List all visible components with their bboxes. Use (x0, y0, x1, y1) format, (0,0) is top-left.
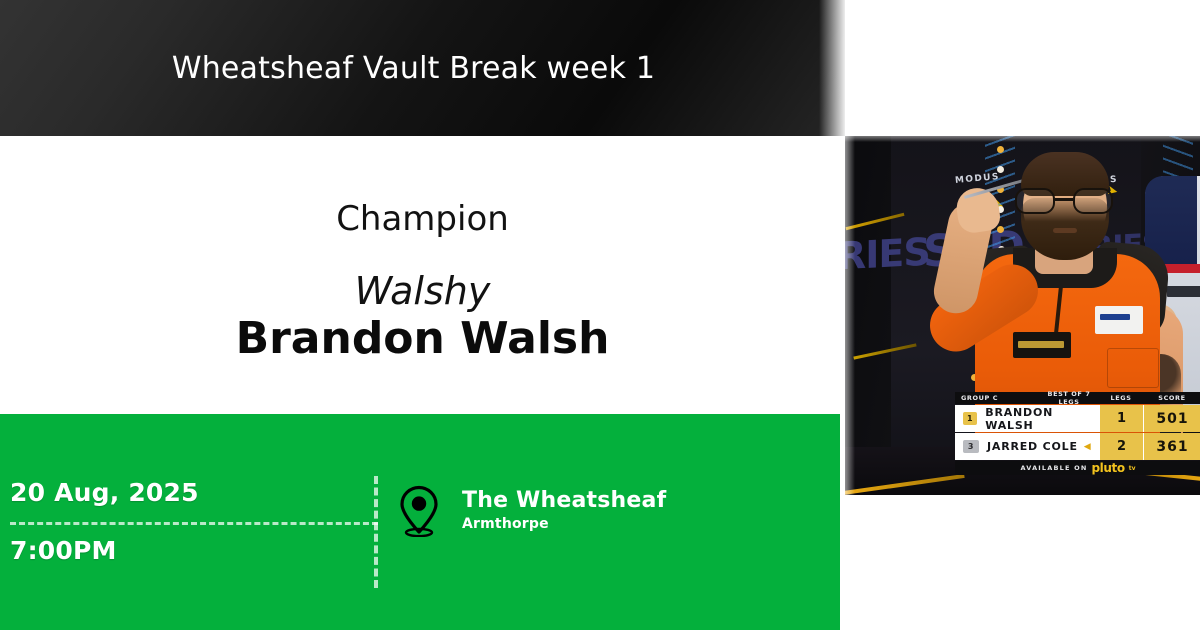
event-header: Wheatsheaf Vault Break week 1 (0, 0, 845, 136)
location-pin-icon (398, 485, 440, 537)
scoreboard-legs-value: 1 (1099, 405, 1143, 432)
datetime-group: 20 Aug, 2025 7:00PM (10, 478, 378, 590)
venue-name: The Wheatsheaf (462, 488, 666, 513)
scoreboard-player-name: BRANDON WALSH (985, 406, 1093, 432)
scoreboard-score-header: SCORE (1143, 394, 1200, 402)
champion-name: Brandon Walsh (236, 314, 610, 363)
glasses-lens-right (1073, 188, 1113, 214)
player-shirt-pocket (1107, 348, 1159, 388)
scoreboard-group-label: GROUP C (955, 394, 1039, 402)
stage-bulb (997, 226, 1004, 233)
player-series-badge (1013, 332, 1071, 358)
event-time: 7:00PM (10, 536, 117, 565)
scoreboard-player-cell: 1 BRANDON WALSH (955, 405, 1099, 432)
scoreboard-format-label: BEST OF 7 LEGS (1039, 390, 1099, 406)
broadcast-availability-label: AVAILABLE ON (1021, 464, 1088, 472)
venue-area: Armthorpe (462, 516, 666, 534)
pluto-tv-suffix: tv (1129, 465, 1136, 472)
glasses-lens-left (1015, 188, 1055, 214)
background-player-sponsor-logo (1167, 286, 1200, 297)
scoreboard-score-value: 501 (1143, 405, 1200, 432)
venue-text: The Wheatsheaf Armthorpe (462, 488, 666, 534)
scoreboard-row: 3 JARRED COLE ◀ 2 361 (955, 433, 1200, 460)
scoreboard-legs-header: LEGS (1099, 394, 1143, 402)
page-title: Wheatsheaf Vault Break week 1 (172, 52, 673, 85)
scoreboard-score-value: 361 (1143, 433, 1200, 460)
stage-bulb (997, 146, 1004, 153)
datetime-dashed-divider (10, 522, 378, 525)
player-glasses (1015, 188, 1115, 214)
scoreboard-throw-marker: ◀ (1084, 442, 1092, 452)
scoreboard-row: 1 BRANDON WALSH 1 501 (955, 405, 1200, 432)
event-card-left-column: Wheatsheaf Vault Break week 1 Champion W… (0, 0, 845, 630)
glasses-bridge (1055, 198, 1073, 201)
scoreboard-legs-value: 2 (1099, 433, 1143, 460)
scoreboard-seed: 1 (963, 412, 977, 425)
player-mouth (1053, 228, 1077, 233)
backdrop-wordmark-1: RIES (845, 230, 930, 279)
champion-label: Champion (336, 202, 509, 238)
venue-group: The Wheatsheaf Armthorpe (398, 476, 818, 546)
scoreboard-header-row: GROUP C BEST OF 7 LEGS LEGS SCORE (955, 392, 1200, 404)
scoreboard-footer: AVAILABLE ON pluto tv (955, 461, 1200, 475)
player-chest-sponsor-badge (1095, 306, 1143, 334)
champion-block: Champion Walshy Brandon Walsh (0, 136, 845, 414)
player-photo: RIES SUD ER SERIES MODUS MODUS ➤ ➤ (845, 136, 1200, 495)
photo-scene: RIES SUD ER SERIES MODUS MODUS ➤ ➤ (845, 136, 1200, 495)
pluto-tv-logo: pluto (1091, 461, 1124, 475)
scoreboard-player-cell: 3 JARRED COLE ◀ (955, 433, 1099, 460)
vertical-dashed-divider (374, 476, 378, 588)
scoreboard-overlay: GROUP C BEST OF 7 LEGS LEGS SCORE 1 BRAN… (955, 392, 1200, 475)
stage-bulb (997, 166, 1004, 173)
event-date: 20 Aug, 2025 (10, 478, 199, 507)
scoreboard-player-name: JARRED COLE (987, 440, 1078, 453)
champion-nickname: Walshy (355, 272, 491, 312)
scoreboard-seed: 3 (963, 440, 979, 453)
